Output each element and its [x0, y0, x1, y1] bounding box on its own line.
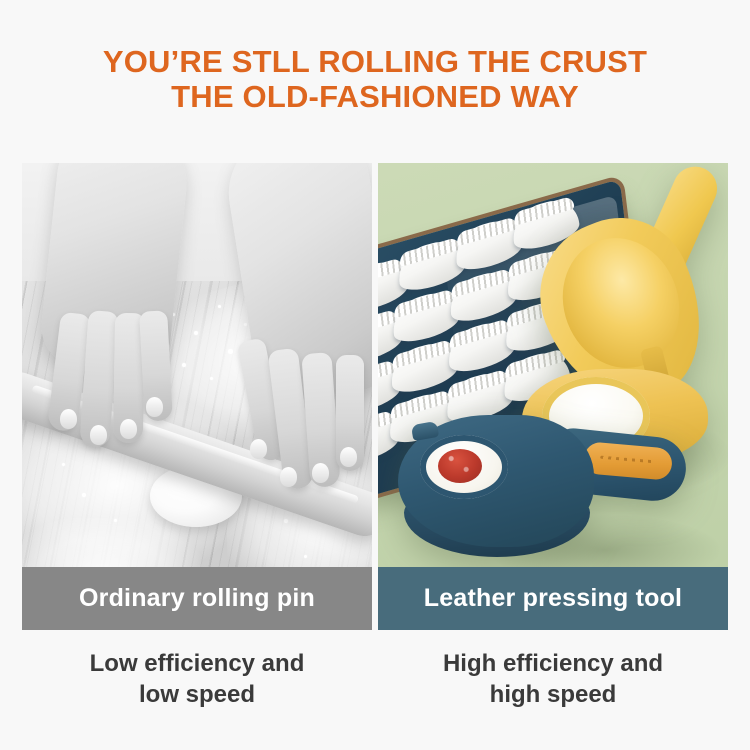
caption-bar-ordinary-rolling-pin: Ordinary rolling pin: [22, 567, 372, 630]
fingernail: [120, 419, 137, 439]
fingernail: [60, 409, 77, 429]
fingernail: [280, 467, 297, 487]
flour-speck: [194, 331, 198, 335]
caption-bar-leather-pressing-tool: Leather pressing tool: [378, 567, 728, 630]
fingernail: [312, 463, 329, 483]
headline-line-1: YOU’RE STLL ROLLING THE CRUST: [0, 44, 750, 79]
subcaption-right-line-2: high speed: [378, 679, 728, 710]
flour-speck: [228, 349, 233, 354]
pressing-tool-scene: [378, 163, 728, 567]
flour-speck: [210, 377, 213, 380]
page-title: YOU’RE STLL ROLLING THE CRUST THE OLD-FA…: [0, 44, 750, 114]
blue-dumpling-press: [398, 407, 688, 567]
meat-filling: [438, 449, 482, 483]
subcaption-left-line-1: Low efficiency and: [22, 648, 372, 679]
fingernail: [250, 439, 267, 459]
comparison-panel-right: Leather pressing tool: [378, 163, 728, 630]
flour-speck: [284, 519, 288, 523]
caption-label: Ordinary rolling pin: [79, 584, 315, 613]
comparison-panel-left: Ordinary rolling pin: [22, 163, 372, 630]
fingernail: [90, 425, 107, 445]
flour-speck: [304, 555, 307, 558]
subcaption-left-line-2: low speed: [22, 679, 372, 710]
pressing-tool-photo: [378, 163, 728, 567]
subcaption-right: High efficiency and high speed: [378, 648, 728, 710]
flour-speck: [62, 463, 65, 466]
flour-speck: [182, 363, 186, 367]
subcaption-right-line-1: High efficiency and: [378, 648, 728, 679]
subcaption-row: Low efficiency and low speed High effici…: [22, 648, 728, 710]
comparison-grid: Ordinary rolling pin: [22, 163, 728, 630]
flour-speck: [244, 323, 247, 326]
flour-speck: [114, 519, 117, 522]
fingernail: [340, 447, 357, 467]
rolling-pin-scene: [22, 163, 372, 567]
flour-speck: [218, 305, 221, 308]
flour-speck: [82, 493, 86, 497]
rolling-pin-photo: [22, 163, 372, 567]
flour-dust: [22, 518, 202, 567]
caption-label: Leather pressing tool: [424, 584, 682, 613]
subcaption-left: Low efficiency and low speed: [22, 648, 372, 710]
fingernail: [146, 397, 163, 417]
headline-line-2: THE OLD-FASHIONED WAY: [0, 79, 750, 114]
